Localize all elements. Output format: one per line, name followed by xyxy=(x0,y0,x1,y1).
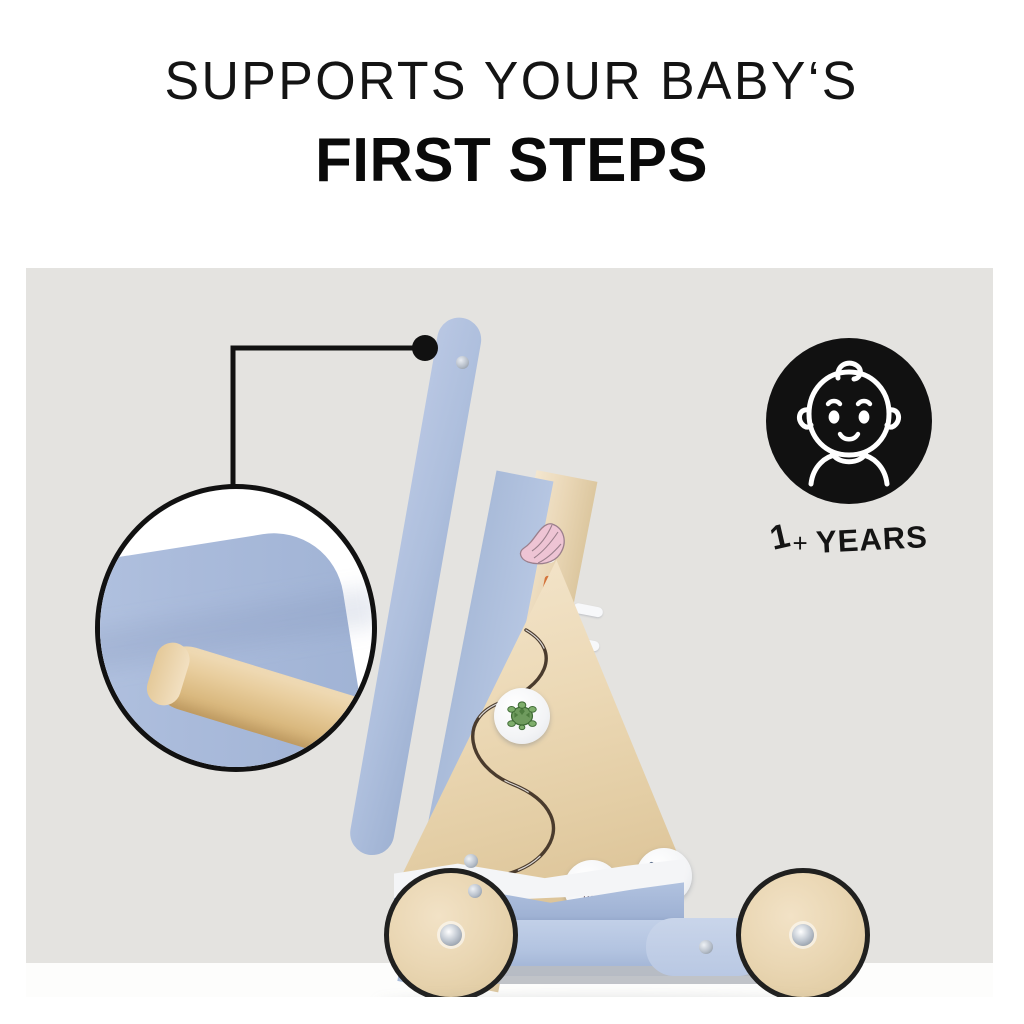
headline-block: SUPPORTS YOUR BABY‘S FIRST STEPS xyxy=(0,0,1024,245)
wheel-right xyxy=(736,868,870,997)
age-plus-sign: + xyxy=(792,528,808,559)
axle-plate-screw xyxy=(699,940,713,954)
magnifier-detail-circle xyxy=(95,484,377,772)
seashell-graphic xyxy=(514,518,570,570)
headline-line-2: FIRST STEPS xyxy=(316,130,709,192)
age-number: 1 xyxy=(766,516,794,558)
wheel-left xyxy=(384,868,518,997)
age-badge-label: 1+YEARS xyxy=(744,520,954,559)
age-unit: YEARS xyxy=(815,519,929,561)
turtle-icon xyxy=(503,697,541,735)
panel-screw-upper xyxy=(464,854,478,868)
headline-line-1: SUPPORTS YOUR BABY‘S xyxy=(165,54,859,108)
baby-face-icon xyxy=(766,338,932,504)
age-badge: 1+YEARS xyxy=(744,338,954,578)
panel-screw-lower xyxy=(468,884,482,898)
turtle-bead[interactable] xyxy=(494,688,550,744)
age-badge-circle xyxy=(766,338,932,504)
product-photo-panel: 1+YEARS xyxy=(26,268,993,997)
